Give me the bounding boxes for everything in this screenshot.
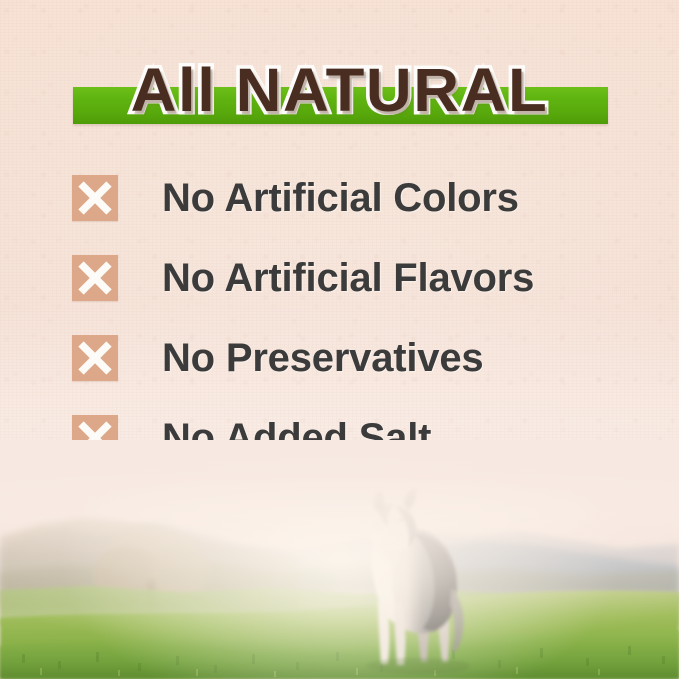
benefit-label: No Preservatives bbox=[162, 335, 483, 381]
benefit-label: No Artificial Flavors bbox=[162, 255, 534, 301]
list-item: No Artificial Flavors bbox=[72, 252, 632, 304]
page-title: All NATURAL bbox=[0, 52, 679, 128]
benefit-label: No Artificial Colors bbox=[162, 175, 519, 221]
x-mark-icon bbox=[72, 335, 118, 381]
x-mark-icon bbox=[72, 255, 118, 301]
list-item: No Artificial Colors bbox=[72, 172, 632, 224]
headline-banner: All NATURAL bbox=[0, 52, 679, 138]
x-mark-icon bbox=[72, 175, 118, 221]
all-natural-product-poster: All NATURAL No Artificial Colors bbox=[0, 0, 679, 679]
lifestyle-photo bbox=[0, 440, 679, 679]
list-item: No Preservatives bbox=[72, 332, 632, 384]
